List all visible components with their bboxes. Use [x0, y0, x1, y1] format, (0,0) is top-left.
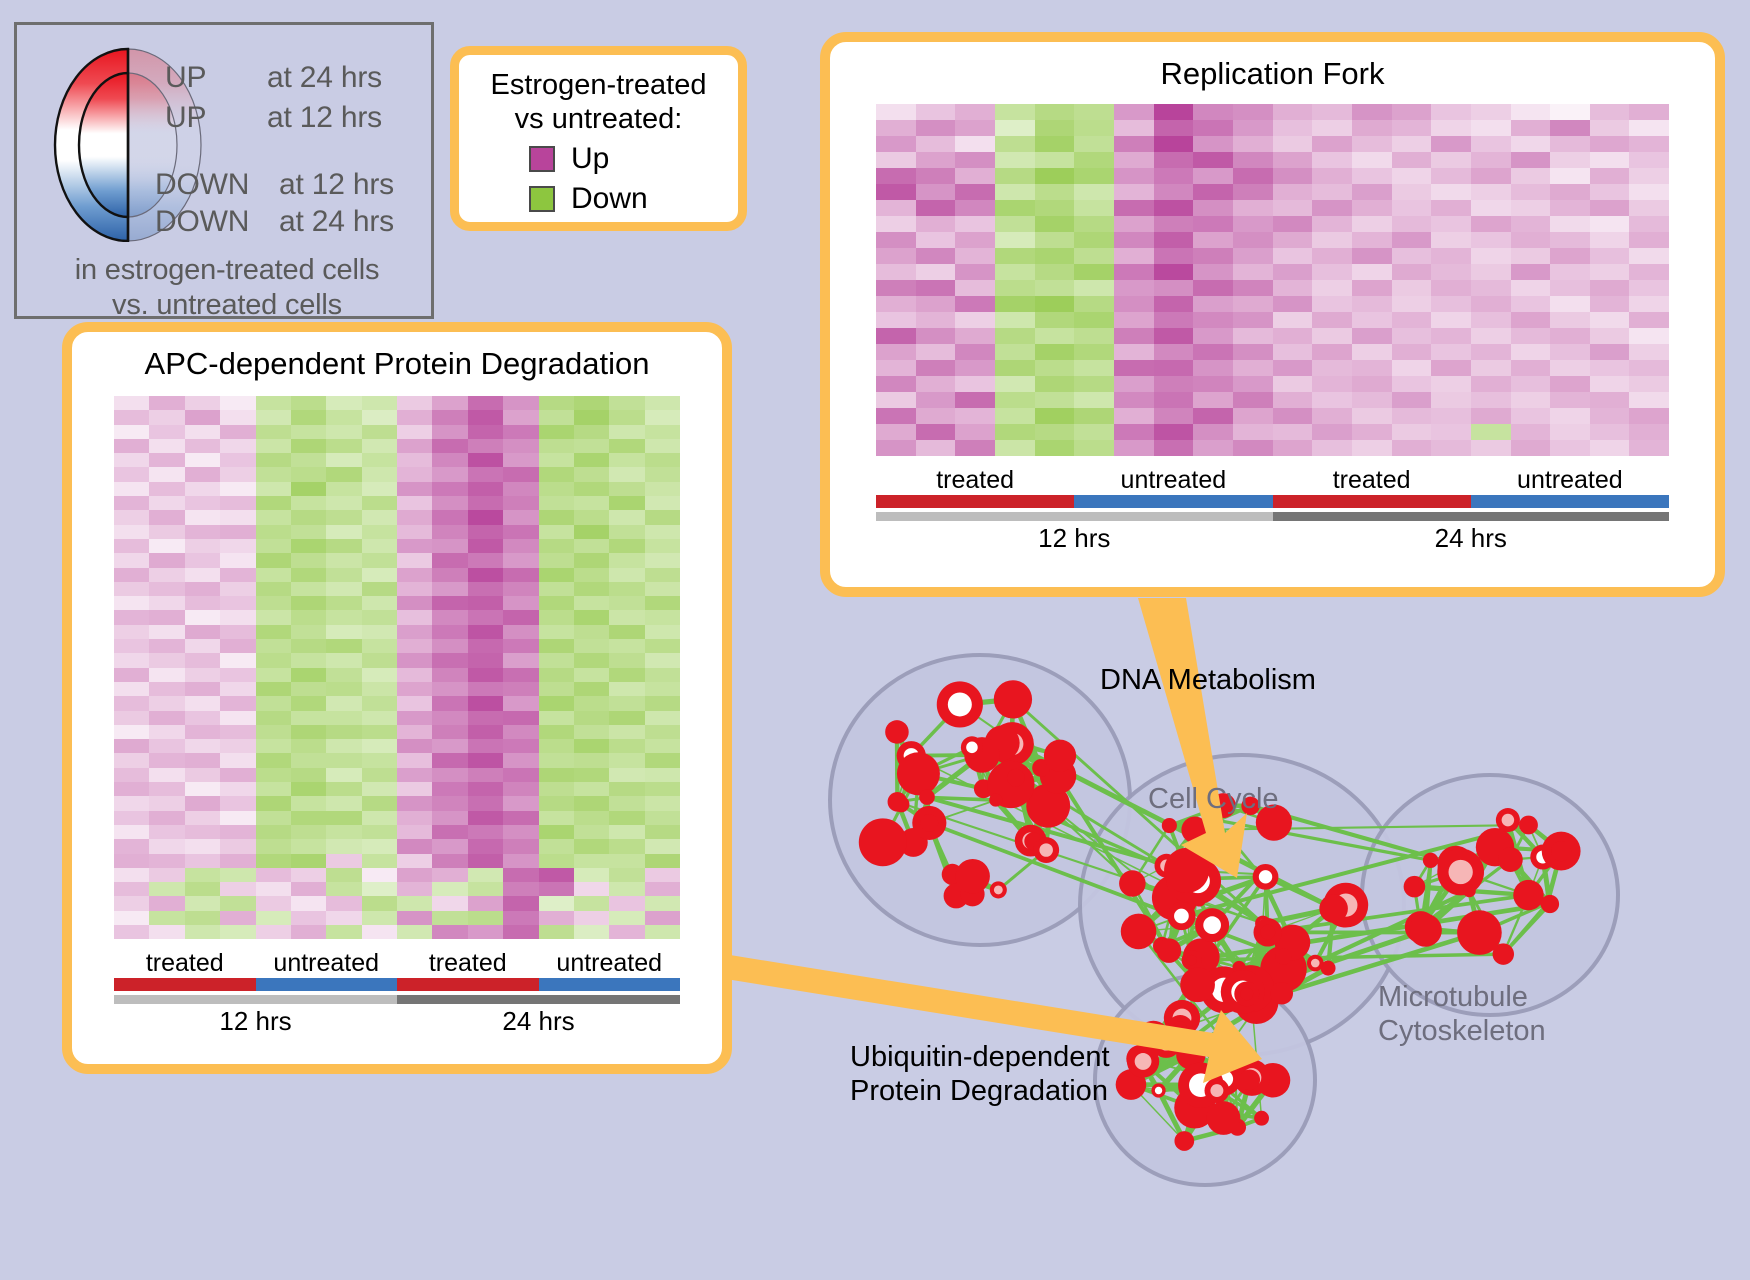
- heatmap-cell: [326, 825, 361, 839]
- heatmap-cell: [995, 248, 1035, 264]
- heatmap-cell: [326, 782, 361, 796]
- heatmap-cell: [1154, 104, 1194, 120]
- heatmap-cell: [256, 496, 291, 510]
- heatmap-cell: [645, 868, 680, 882]
- heatmap-cell: [291, 711, 326, 725]
- condition-labels-rf: treateduntreatedtreateduntreated: [876, 466, 1669, 495]
- network-node[interactable]: [1121, 914, 1157, 950]
- heatmap-cell: [503, 854, 538, 868]
- network-node[interactable]: [1174, 1131, 1194, 1151]
- heatmap-cell: [1035, 344, 1075, 360]
- heatmap-cell: [185, 739, 220, 753]
- heatmap-cell: [220, 439, 255, 453]
- network-node[interactable]: [1180, 967, 1215, 1002]
- heatmap-cell: [1471, 248, 1511, 264]
- condition-bar-apc: [114, 978, 680, 991]
- heatmap-cell: [114, 753, 149, 767]
- network-node[interactable]: [1181, 816, 1208, 843]
- heatmap-cell: [1471, 360, 1511, 376]
- heatmap-cell: [1035, 424, 1075, 440]
- heatmap-cell: [114, 825, 149, 839]
- heatmap-cell: [955, 376, 995, 392]
- heatmap-cell: [916, 200, 956, 216]
- heatmap-cell: [468, 839, 503, 853]
- heatmap-cell: [114, 582, 149, 596]
- heatmap-cell: [185, 868, 220, 882]
- heatmap-cell: [574, 596, 609, 610]
- heatmap-cell: [397, 868, 432, 882]
- heatmap-cell: [1233, 120, 1273, 136]
- heatmap-cell: [1035, 376, 1075, 392]
- heatmap-cell: [1193, 328, 1233, 344]
- heatmap-cell: [876, 184, 916, 200]
- network-node[interactable]: [994, 680, 1032, 718]
- heatmap-cell: [1511, 424, 1551, 440]
- heatmap-cell: [609, 482, 644, 496]
- heatmap-cell: [1511, 232, 1551, 248]
- network-node[interactable]: [1275, 948, 1291, 964]
- heatmap-cell: [1590, 312, 1630, 328]
- heatmap-cell: [291, 553, 326, 567]
- heatmap-cell: [185, 711, 220, 725]
- heatmap-cell: [185, 510, 220, 524]
- heatmap-cell: [256, 796, 291, 810]
- heatmap-cell: [1193, 376, 1233, 392]
- network-node[interactable]: [1307, 955, 1324, 972]
- heatmap-cell: [185, 610, 220, 624]
- heatmap-cell: [149, 696, 184, 710]
- network-node[interactable]: [919, 789, 935, 805]
- heatmap-row: [114, 453, 680, 467]
- heatmap-cell: [916, 296, 956, 312]
- heatmap-cell: [955, 280, 995, 296]
- heatmap-cell: [362, 796, 397, 810]
- heatmap-cell: [432, 711, 467, 725]
- heatmap-cell: [291, 854, 326, 868]
- heatmap-cell: [397, 696, 432, 710]
- network-node[interactable]: [1437, 849, 1484, 896]
- network-node[interactable]: [1207, 1101, 1241, 1135]
- heatmap-cell: [326, 696, 361, 710]
- heatmap-cell: [1431, 344, 1471, 360]
- network-node[interactable]: [1409, 914, 1442, 947]
- network-node[interactable]: [1162, 818, 1177, 833]
- heatmap-cell: [645, 896, 680, 910]
- heatmap-cell: [149, 725, 184, 739]
- heatmap-cell: [1233, 248, 1273, 264]
- heatmap-cell: [468, 639, 503, 653]
- network-node[interactable]: [1542, 832, 1581, 871]
- heatmap-cell: [1193, 440, 1233, 456]
- heatmap-cell: [114, 696, 149, 710]
- heatmap-cell: [574, 453, 609, 467]
- heatmap-cell: [503, 825, 538, 839]
- heatmap-cell: [609, 725, 644, 739]
- heatmap-cell: [432, 739, 467, 753]
- network-node[interactable]: [1167, 1015, 1193, 1041]
- network-node[interactable]: [1007, 769, 1025, 787]
- heatmap-cell: [256, 668, 291, 682]
- heatmap-cell: [539, 467, 574, 481]
- network-node[interactable]: [1519, 816, 1538, 835]
- heatmap-cell: [955, 168, 995, 184]
- network-node-inner: [1210, 1084, 1223, 1097]
- heatmap-cell: [468, 711, 503, 725]
- network-node[interactable]: [1254, 1111, 1269, 1126]
- heatmap-cell: [256, 610, 291, 624]
- heatmap-cell: [149, 439, 184, 453]
- network-node[interactable]: [1271, 982, 1293, 1004]
- heatmap-cell: [256, 911, 291, 925]
- heatmap-cell: [326, 896, 361, 910]
- heatmap-cell: [1431, 296, 1471, 312]
- heatmap-cell: [220, 696, 255, 710]
- heatmap-cell: [326, 496, 361, 510]
- heatmap-cell: [362, 496, 397, 510]
- heatmap-row: [876, 376, 1669, 392]
- condition-bar-segment: [1273, 495, 1471, 508]
- network-node-inner: [920, 814, 938, 832]
- heatmap-cell: [114, 725, 149, 739]
- heatmap-cell: [1193, 264, 1233, 280]
- heatmap-cell: [291, 768, 326, 782]
- heatmap-cell: [326, 739, 361, 753]
- network-node[interactable]: [937, 681, 983, 727]
- heatmap-cell: [114, 768, 149, 782]
- heatmap-cell: [1511, 184, 1551, 200]
- heatmap-cell: [1550, 360, 1590, 376]
- network-node[interactable]: [990, 881, 1007, 898]
- network-node[interactable]: [1253, 918, 1282, 947]
- heatmap-cell: [397, 782, 432, 796]
- heatmap-cell: [645, 582, 680, 596]
- network-node-outer: [1519, 816, 1538, 835]
- heatmap-cell: [503, 539, 538, 553]
- key-item-up-label: Up: [571, 142, 609, 176]
- heatmap-cell: [1629, 440, 1669, 456]
- heatmap-cell: [574, 410, 609, 424]
- heatmap-cell: [1590, 296, 1630, 312]
- heatmap-cell: [114, 739, 149, 753]
- heatmap-cell: [220, 911, 255, 925]
- heatmap-cell: [609, 553, 644, 567]
- heatmap-cell: [114, 467, 149, 481]
- network-node[interactable]: [885, 720, 909, 744]
- heatmap-cell: [185, 539, 220, 553]
- heatmap-cell: [1233, 184, 1273, 200]
- heatmap-cell: [955, 360, 995, 376]
- heatmap-cell: [1471, 424, 1511, 440]
- heatmap-cell: [326, 854, 361, 868]
- ring-label-up-12: UP: [165, 101, 206, 135]
- condition-bar-segment: [114, 978, 256, 991]
- heatmap-cell: [1154, 344, 1194, 360]
- timepoint-label: 24 hrs: [397, 1006, 680, 1037]
- network-node[interactable]: [989, 793, 1002, 806]
- heatmap-cell: [1273, 280, 1313, 296]
- network-node[interactable]: [961, 736, 983, 758]
- heatmap-cell: [574, 896, 609, 910]
- network-node[interactable]: [859, 818, 907, 866]
- heatmap-cell: [185, 911, 220, 925]
- heatmap-cell: [1471, 200, 1511, 216]
- network-node[interactable]: [955, 859, 989, 893]
- heatmap-cell: [1273, 104, 1313, 120]
- heatmap-cell: [1511, 312, 1551, 328]
- network-node-inner: [1203, 916, 1221, 934]
- network-node[interactable]: [1319, 894, 1348, 923]
- heatmap-cell: [1193, 120, 1233, 136]
- heatmap-cell: [1035, 440, 1075, 456]
- heatmap-cell: [432, 753, 467, 767]
- heatmap-row: [114, 553, 680, 567]
- heatmap-cell: [1035, 392, 1075, 408]
- heatmap-cell: [539, 782, 574, 796]
- timepoint-bar-segment: [1273, 512, 1670, 521]
- network-node[interactable]: [1463, 884, 1476, 897]
- heatmap-cell: [574, 925, 609, 939]
- heatmap-cell: [1550, 424, 1590, 440]
- heatmap-cell: [1273, 424, 1313, 440]
- heatmap-cell: [397, 839, 432, 853]
- network-node[interactable]: [1239, 1069, 1260, 1090]
- network-node[interactable]: [1033, 837, 1059, 863]
- heatmap-cell: [574, 568, 609, 582]
- network-node-outer: [1180, 967, 1215, 1002]
- heatmap-cell: [1074, 136, 1114, 152]
- heatmap-cell: [291, 425, 326, 439]
- network-node[interactable]: [1223, 1039, 1245, 1061]
- heatmap-cell: [574, 882, 609, 896]
- heatmap-cell: [1233, 392, 1273, 408]
- heatmap-cell: [397, 882, 432, 896]
- heatmap-cell: [1511, 360, 1551, 376]
- condition-label: treated: [876, 466, 1074, 495]
- heatmap-cell: [1035, 216, 1075, 232]
- heatmap-cell: [955, 440, 995, 456]
- heatmap-row: [114, 510, 680, 524]
- heatmap-cell: [503, 768, 538, 782]
- network-node[interactable]: [1423, 853, 1438, 868]
- network-node[interactable]: [1234, 981, 1259, 1006]
- heatmap-cell: [645, 639, 680, 653]
- heatmap-cell: [149, 496, 184, 510]
- heatmap-cell: [539, 596, 574, 610]
- heatmap-cell: [114, 568, 149, 582]
- heatmap-cell: [876, 408, 916, 424]
- heatmap-cell: [1471, 136, 1511, 152]
- heatmap-cell: [220, 811, 255, 825]
- network-node[interactable]: [1513, 880, 1543, 910]
- heatmap-cell: [539, 553, 574, 567]
- network-node[interactable]: [897, 752, 940, 795]
- heatmap-cell: [539, 510, 574, 524]
- cluster-label-cell-cycle: Cell Cycle: [1148, 783, 1279, 816]
- heatmap-cell: [291, 896, 326, 910]
- heatmap-cell: [645, 839, 680, 853]
- heatmap-cell: [955, 344, 995, 360]
- heatmap-cell: [916, 440, 956, 456]
- heatmap-cell: [185, 596, 220, 610]
- heatmap-cell: [432, 854, 467, 868]
- heatmap-cell: [539, 453, 574, 467]
- heatmap-cell: [432, 668, 467, 682]
- network-node[interactable]: [1404, 876, 1426, 898]
- heatmap-cell: [468, 467, 503, 481]
- network-node[interactable]: [1167, 902, 1195, 930]
- heatmap-cell: [326, 553, 361, 567]
- condition-bar-segment: [1074, 495, 1272, 508]
- heatmap-cell: [1114, 152, 1154, 168]
- network-node-inner: [1173, 1021, 1186, 1034]
- network-node[interactable]: [1044, 740, 1076, 772]
- network-node[interactable]: [1157, 938, 1182, 963]
- cluster-label-dna-metabolism: DNA Metabolism: [1100, 664, 1316, 697]
- heatmap-cell: [574, 582, 609, 596]
- heatmap-cell: [397, 453, 432, 467]
- heatmap-cell: [256, 439, 291, 453]
- heatmap-cell: [220, 539, 255, 553]
- network-node[interactable]: [1493, 943, 1515, 965]
- heatmap-cell: [468, 825, 503, 839]
- heatmap-cell: [468, 482, 503, 496]
- heatmap-cell: [955, 392, 995, 408]
- network-node[interactable]: [1151, 1083, 1165, 1097]
- heatmap-cell: [468, 453, 503, 467]
- heatmap-cell: [256, 653, 291, 667]
- heatmap-cell: [432, 696, 467, 710]
- heatmap-cell: [291, 753, 326, 767]
- heatmap-cell: [362, 711, 397, 725]
- heatmap-cell: [1035, 280, 1075, 296]
- heatmap-cell: [468, 625, 503, 639]
- network-node[interactable]: [1253, 864, 1279, 890]
- heatmap-cell: [1471, 440, 1511, 456]
- heatmap-cell: [539, 525, 574, 539]
- heatmap-row: [876, 200, 1669, 216]
- heatmap-cell: [609, 425, 644, 439]
- heatmap-cell: [362, 625, 397, 639]
- heatmap-cell: [1629, 136, 1669, 152]
- heatmap-cell: [326, 911, 361, 925]
- heatmap-cell: [876, 120, 916, 136]
- heatmap-cell: [291, 839, 326, 853]
- heatmap-cell: [362, 882, 397, 896]
- heatmap-cell: [326, 839, 361, 853]
- heatmap-cell: [1312, 392, 1352, 408]
- heatmap-cell: [185, 525, 220, 539]
- panel-apc-degradation: APC-dependent Protein Degradation treate…: [62, 322, 732, 1074]
- heatmap-cell: [1114, 232, 1154, 248]
- heatmap-cell: [876, 440, 916, 456]
- heatmap-cell: [362, 825, 397, 839]
- heatmap-cell: [876, 312, 916, 328]
- heatmap-cell: [1114, 264, 1154, 280]
- heatmap-cell: [220, 410, 255, 424]
- heatmap-cell: [362, 525, 397, 539]
- heatmap-cell: [609, 510, 644, 524]
- heatmap-cell: [185, 639, 220, 653]
- heatmap-cell: [1550, 328, 1590, 344]
- heatmap-cell: [468, 725, 503, 739]
- heatmap-cell: [503, 811, 538, 825]
- heatmap-cell: [256, 782, 291, 796]
- heatmap-cell: [609, 711, 644, 725]
- heatmap-cell: [397, 668, 432, 682]
- network-node[interactable]: [1496, 808, 1520, 832]
- network-node-inner: [948, 692, 972, 716]
- heatmap-cell: [995, 328, 1035, 344]
- heatmap-cell: [185, 582, 220, 596]
- heatmap-cell: [1273, 216, 1313, 232]
- heatmap-cell: [362, 596, 397, 610]
- heatmap-cell: [503, 410, 538, 424]
- heatmap-cell: [1074, 408, 1114, 424]
- heatmap-cell: [326, 453, 361, 467]
- heatmap-cell: [645, 653, 680, 667]
- heatmap-cell: [539, 396, 574, 410]
- heatmap-cell: [397, 725, 432, 739]
- network-node-outer: [1174, 1131, 1194, 1151]
- heatmap-row: [114, 925, 680, 939]
- network-node[interactable]: [1182, 950, 1202, 970]
- heatmap-cell: [291, 782, 326, 796]
- heatmap-row: [114, 868, 680, 882]
- heatmap-cell: [397, 568, 432, 582]
- heatmap-cell: [995, 312, 1035, 328]
- heatmap-cell: [1392, 200, 1432, 216]
- heatmap-cell: [326, 639, 361, 653]
- heatmap-cell: [1471, 280, 1511, 296]
- timepoint-bar-segment: [876, 512, 1273, 521]
- network-node[interactable]: [1498, 847, 1523, 872]
- heatmap-cell: [609, 653, 644, 667]
- network-node[interactable]: [1119, 870, 1146, 897]
- network-node[interactable]: [888, 792, 908, 812]
- heatmap-row: [876, 216, 1669, 232]
- network-node-outer: [1513, 880, 1543, 910]
- heatmap-cell: [362, 725, 397, 739]
- heatmap-cell: [1471, 232, 1511, 248]
- heatmap-cell: [1233, 424, 1273, 440]
- heatmap-cell: [503, 453, 538, 467]
- heatmap-cell: [574, 739, 609, 753]
- heatmap-cell: [955, 232, 995, 248]
- network-node[interactable]: [1204, 1078, 1229, 1103]
- heatmap-cell: [432, 925, 467, 939]
- heatmap-cell: [609, 568, 644, 582]
- heatmap-cell: [362, 839, 397, 853]
- heatmap-cell: [468, 496, 503, 510]
- heatmap-cell: [1629, 344, 1669, 360]
- condition-label: untreated: [1074, 466, 1272, 495]
- heatmap-cell: [876, 232, 916, 248]
- network-node[interactable]: [1164, 848, 1209, 893]
- heatmap-cell: [397, 582, 432, 596]
- heatmap-cell: [397, 911, 432, 925]
- heatmap-cell: [503, 596, 538, 610]
- heatmap-cell: [1590, 120, 1630, 136]
- heatmap-cell: [1471, 312, 1511, 328]
- network-node-outer: [1319, 894, 1348, 923]
- heatmap-cell: [503, 653, 538, 667]
- network-node[interactable]: [1195, 908, 1229, 942]
- network-node[interactable]: [1541, 895, 1559, 913]
- network-node[interactable]: [912, 806, 946, 840]
- heatmap-cell: [1590, 104, 1630, 120]
- heatmap-cell: [256, 467, 291, 481]
- heatmap-cell: [256, 882, 291, 896]
